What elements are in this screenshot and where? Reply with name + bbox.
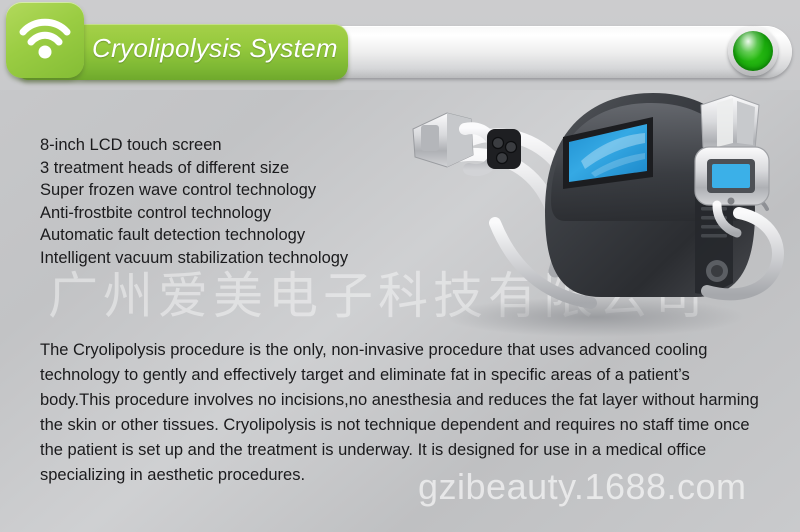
feature-list: 8-inch LCD touch screen 3 treatment head…	[40, 134, 440, 269]
header: Cryolipolysis System	[0, 0, 800, 90]
list-item: Super frozen wave control technology	[40, 179, 440, 202]
description-paragraph: The Cryolipolysis procedure is the only,…	[40, 338, 762, 488]
wifi-icon	[6, 2, 84, 78]
status-indicator-icon[interactable]	[728, 26, 778, 76]
product-image	[395, 85, 800, 340]
slide-canvas: 广州爱美电子科技有限公司	[0, 0, 800, 532]
list-item: Anti-frostbite control technology	[40, 202, 440, 225]
list-item: 8-inch LCD touch screen	[40, 134, 440, 157]
list-item: Intelligent vacuum stabilization technol…	[40, 247, 440, 270]
list-item: Automatic fault detection technology	[40, 224, 440, 247]
page-title: Cryolipolysis System	[92, 33, 352, 64]
list-item: 3 treatment heads of different size	[40, 157, 440, 180]
